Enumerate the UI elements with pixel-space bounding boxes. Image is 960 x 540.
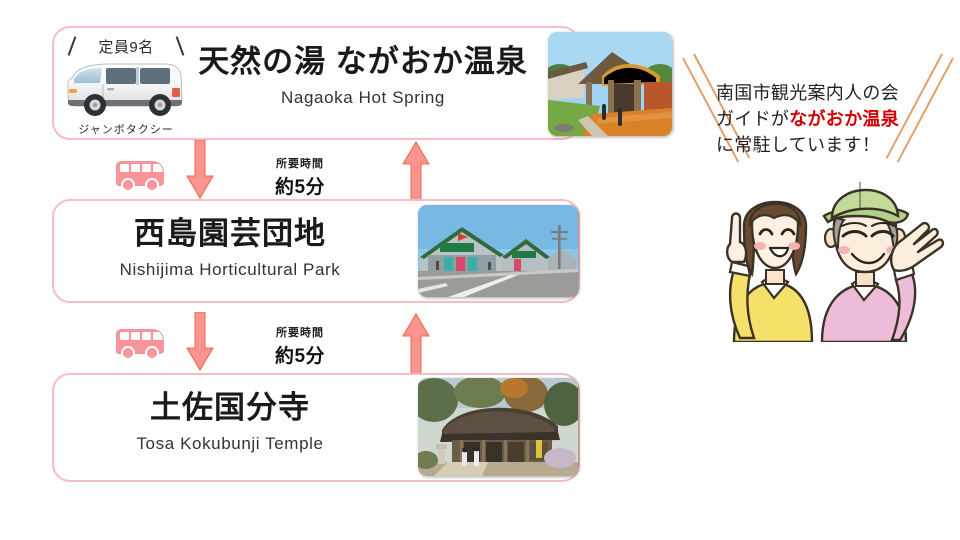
guide-callout-line-1: 南国市観光案内人の会 [716,80,934,106]
guide-callout-line-2: ガイドがながおか温泉 [716,106,934,132]
travel-time-leg-1: 所要時間 約5分 [240,155,360,199]
travel-time-label-leg-1: 所要時間 [240,155,360,171]
jumbo-taxi-badge: 定員9名 [62,34,190,134]
arrow-down-leg-1 [186,140,214,200]
capacity-label: 定員9名 [98,36,153,57]
capacity-row: 定員9名 [62,34,190,58]
travel-time-value-leg-1: 約5分 [240,172,360,199]
stop-titles-nishijima: 西島園芸団地 Nishijima Horticultural Park [62,218,398,280]
stop-title-en-nagaoka: Nagaoka Hot Spring [190,88,536,108]
arrow-up-leg-2 [402,312,430,374]
photo-tosa-kokubunji-temple [418,378,578,476]
stop-titles-kokubunji: 土佐国分寺 Tosa Kokubunji Temple [62,392,398,454]
route-diagram: 定員9名 [0,0,960,540]
photo-nishijima-horticultural-park [418,205,578,297]
arrow-up-leg-1 [402,140,430,200]
stop-titles-nagaoka: 天然の湯 ながおか温泉 Nagaoka Hot Spring [190,46,536,108]
stop-title-en-nishijima: Nishijima Horticultural Park [62,260,398,280]
stop-title-ja-nagaoka: 天然の湯 ながおか温泉 [190,46,536,79]
minibus-icon-leg-2 [112,326,168,365]
minibus-icon-leg-1 [112,158,168,197]
arrow-down-leg-2 [186,312,214,372]
guide-woman-pointing-icon [727,202,812,342]
jumbo-taxi-van-icon [62,58,190,120]
guide-callout-line-2-prefix: ガイドが [716,109,789,129]
photo-nagaoka-hot-spring [548,32,672,136]
travel-time-label-leg-2: 所要時間 [240,324,360,340]
guide-man-with-cap-icon [822,182,943,342]
guide-callout-line-3: に常駐しています！ [716,132,934,158]
stop-title-en-kokubunji: Tosa Kokubunji Temple [62,434,398,454]
guide-callout: 南国市観光案内人の会 ガイドがながおか温泉 に常駐しています！ [676,48,960,178]
guide-figures [700,162,950,342]
slash-left-decoration [68,36,77,55]
stop-title-ja-nishijima: 西島園芸団地 [62,218,398,251]
travel-time-value-leg-2: 約5分 [240,341,360,368]
guide-callout-highlight: ながおか温泉 [789,109,899,129]
guide-callout-text: 南国市観光案内人の会 ガイドがながおか温泉 に常駐しています！ [716,80,934,158]
jumbo-taxi-label: ジャンボタクシー [62,121,190,137]
travel-time-leg-2: 所要時間 約5分 [240,324,360,368]
slash-right-decoration [176,36,185,55]
stop-title-ja-kokubunji: 土佐国分寺 [62,392,398,425]
